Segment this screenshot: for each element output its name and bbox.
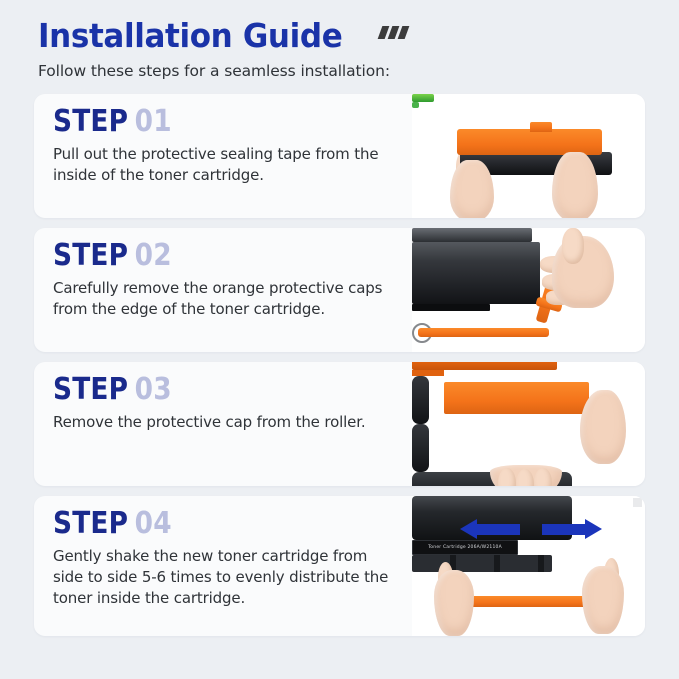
page-header: Installation Guide Follow these steps fo… — [34, 0, 645, 80]
page-title: Installation Guide — [38, 16, 342, 56]
cartridge-body — [412, 242, 540, 304]
cartridge-end-left — [412, 376, 429, 424]
orange-cap-notch — [412, 370, 444, 376]
orange-protective-cap — [444, 382, 589, 414]
step-heading-01: STEP 01 — [53, 107, 398, 137]
cartridge-label: Toner Cartridge 206A/W2110A — [412, 540, 518, 555]
step-image-02 — [412, 228, 645, 352]
step-description-04: Gently shake the new toner cartridge fro… — [53, 546, 398, 610]
step-number-03: 03 — [135, 375, 172, 405]
step-heading-03: STEP 03 — [53, 375, 398, 405]
step-card-03: STEP 03 Remove the protective cap from t… — [34, 362, 645, 486]
step-image-03 — [412, 362, 645, 486]
step-card-02: STEP 02 Carefully remove the orange prot… — [34, 228, 645, 352]
cartridge-orange-base — [418, 328, 549, 337]
step-number-01: 01 — [135, 107, 172, 137]
arrow-left-icon — [476, 524, 520, 535]
step-card-01: STEP 01 Pull out the protective sealing … — [34, 94, 645, 218]
cartridge-orange-cover — [457, 129, 602, 155]
step-heading-02: STEP 02 — [53, 241, 398, 271]
step-heading-04: STEP 04 — [53, 509, 398, 539]
installation-guide-page: Installation Guide Follow these steps fo… — [0, 0, 679, 679]
sealing-tape-tip — [412, 102, 419, 108]
step-number-02: 02 — [135, 241, 172, 271]
page-subtitle: Follow these steps for a seamless instal… — [38, 62, 645, 80]
hand-right — [580, 390, 626, 464]
step-word-02: STEP — [53, 241, 128, 271]
step-description-02: Carefully remove the orange protective c… — [53, 278, 398, 321]
step-text-01: STEP 01 Pull out the protective sealing … — [34, 94, 412, 218]
step-image-04: Toner Cartridge 206A/W2110A — [412, 496, 645, 636]
shake-arrows — [464, 519, 599, 541]
arrow-right-icon — [542, 524, 586, 535]
cartridge-slot — [412, 304, 490, 311]
hand-left — [434, 570, 474, 636]
step-card-04: STEP 04 Gently shake the new toner cartr… — [34, 496, 645, 636]
cartridge-orange-tab — [530, 122, 552, 132]
step-description-01: Pull out the protective sealing tape fro… — [53, 144, 398, 187]
step-description-03: Remove the protective cap from the rolle… — [53, 412, 398, 433]
steps-list: STEP 01 Pull out the protective sealing … — [34, 94, 645, 636]
step-number-04: 04 — [135, 509, 172, 539]
sealing-tape — [412, 94, 434, 102]
cartridge-ridge — [412, 311, 462, 323]
hand-right — [582, 566, 624, 634]
step-text-03: STEP 03 Remove the protective cap from t… — [34, 362, 412, 486]
step-word-01: STEP — [53, 107, 128, 137]
slash-marks-icon — [380, 26, 407, 39]
cartridge-top-shell — [412, 228, 532, 242]
step-text-02: STEP 02 Carefully remove the orange prot… — [34, 228, 412, 352]
hand-left — [450, 160, 494, 218]
step-word-03: STEP — [53, 375, 128, 405]
cartridge-ridges — [412, 555, 552, 572]
orange-cap-lip — [412, 362, 557, 370]
step-text-04: STEP 04 Gently shake the new toner cartr… — [34, 496, 412, 636]
step-word-04: STEP — [53, 509, 128, 539]
cartridge-end-right — [412, 424, 429, 472]
thumb — [562, 228, 584, 264]
hand-right — [552, 152, 598, 218]
title-row: Installation Guide — [38, 16, 645, 56]
cartridge-label-text: Toner Cartridge 206A/W2110A — [428, 545, 502, 550]
step-image-01 — [412, 94, 645, 218]
